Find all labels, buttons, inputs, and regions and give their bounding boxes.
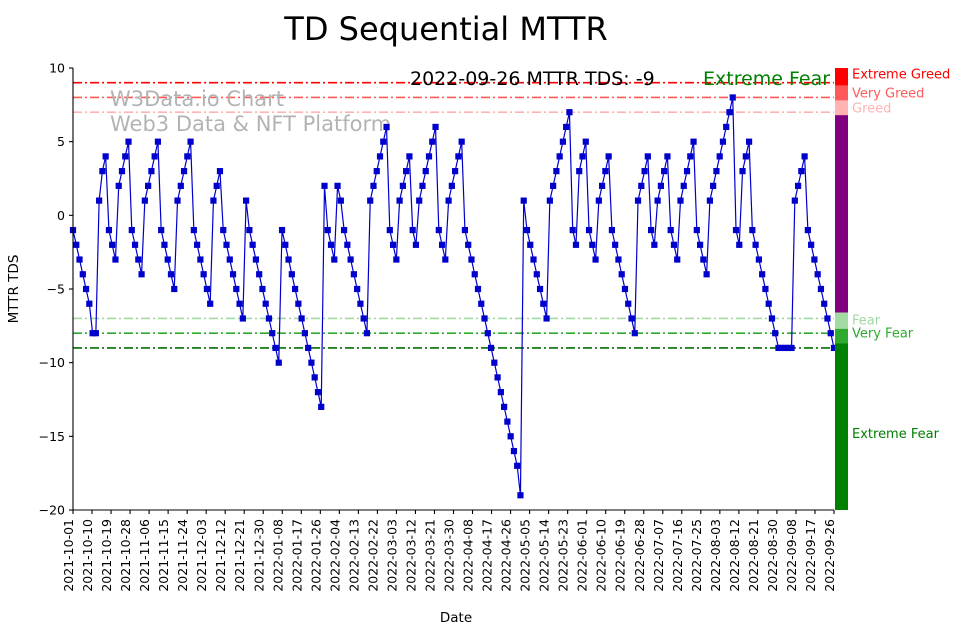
series-marker [635, 198, 641, 204]
series-marker [406, 153, 412, 159]
series-marker [759, 271, 765, 277]
x-tick-label: 2022-02-22 [365, 519, 380, 592]
series-marker [429, 139, 435, 145]
series-marker [478, 301, 484, 307]
series-marker [295, 301, 301, 307]
series-marker [325, 227, 331, 233]
x-axis-label: Date [440, 610, 472, 626]
series-marker [446, 198, 452, 204]
series-marker [96, 198, 102, 204]
series-marker [511, 448, 517, 454]
series-marker [622, 286, 628, 292]
series-marker [749, 227, 755, 233]
colorbar-segment-extreme-fear [835, 344, 848, 510]
series-marker [710, 183, 716, 189]
series-marker [694, 227, 700, 233]
x-tick-label: 2022-01-26 [308, 519, 323, 592]
series-marker [586, 227, 592, 233]
x-tick-label: 2021-12-03 [194, 519, 209, 592]
series-marker [135, 256, 141, 262]
series-marker [717, 153, 723, 159]
series-marker [671, 242, 677, 248]
series-marker [811, 256, 817, 262]
series-marker [808, 242, 814, 248]
series-marker [109, 242, 115, 248]
series-marker [138, 271, 144, 277]
x-tick-label: 2022-02-04 [327, 519, 342, 592]
series-marker [615, 256, 621, 262]
series-marker [374, 168, 380, 174]
series-marker [220, 227, 226, 233]
series-marker [589, 242, 595, 248]
series-marker [106, 227, 112, 233]
series-marker [103, 153, 109, 159]
x-tick-label: 2022-08-12 [727, 519, 742, 592]
series-marker [802, 153, 808, 159]
x-tick-label: 2021-10-10 [80, 519, 95, 592]
series-marker [168, 271, 174, 277]
series-marker [726, 109, 732, 115]
series-marker [566, 109, 572, 115]
series-marker [579, 153, 585, 159]
series-marker [606, 153, 612, 159]
series-marker [410, 227, 416, 233]
annotation-sentiment: Extreme Fear [703, 68, 830, 90]
series-marker [148, 168, 154, 174]
series-marker [86, 301, 92, 307]
series-marker [674, 256, 680, 262]
chart-canvas: TD Sequential MTTR W3Data.io Chart Web3 … [0, 0, 962, 633]
series-marker [282, 242, 288, 248]
series-marker [821, 301, 827, 307]
series-marker [739, 168, 745, 174]
series-marker [223, 242, 229, 248]
series-marker [596, 198, 602, 204]
series-marker [259, 286, 265, 292]
series-marker [269, 330, 275, 336]
sentiment-colorbar [835, 68, 848, 510]
colorbar-segment-very-fear [835, 329, 848, 344]
colorbar-label-very-fear: Very Fear [852, 327, 914, 342]
series-marker [387, 227, 393, 233]
x-tick-label: 2021-11-24 [175, 519, 190, 592]
series-marker [517, 492, 523, 498]
series-marker [465, 242, 471, 248]
colorbar-label-very-greed: Very Greed [852, 87, 924, 102]
series-marker [321, 183, 327, 189]
series-marker [423, 168, 429, 174]
series-marker [828, 330, 834, 336]
x-tick-label: 2022-04-08 [461, 519, 476, 592]
watermark-line-2: Web3 Data & NFT Platform [110, 112, 391, 136]
series-marker [122, 153, 128, 159]
series-marker [184, 153, 190, 159]
series-marker [723, 124, 729, 130]
series-marker [798, 168, 804, 174]
series-marker [210, 198, 216, 204]
series-marker [279, 227, 285, 233]
series-marker [576, 168, 582, 174]
series-marker [452, 168, 458, 174]
series-marker [795, 183, 801, 189]
series-marker [455, 153, 461, 159]
annotation-latest-value: 2022-09-26 MTTR TDS: -9 [410, 68, 655, 90]
series-marker [364, 330, 370, 336]
series-marker [204, 286, 210, 292]
series-marker [792, 198, 798, 204]
series-marker [570, 227, 576, 233]
x-tick-label: 2021-11-06 [137, 519, 152, 592]
series-marker [99, 168, 105, 174]
series-marker [83, 286, 89, 292]
series-marker [753, 242, 759, 248]
series-marker [197, 256, 203, 262]
series-marker [599, 183, 605, 189]
series-marker [80, 271, 86, 277]
series-marker [158, 227, 164, 233]
series-marker [76, 256, 82, 262]
colorbar-segment-greed [835, 100, 848, 115]
series-marker [383, 124, 389, 130]
series-marker [501, 404, 507, 410]
series-marker [700, 256, 706, 262]
series-marker [655, 198, 661, 204]
x-tick-label: 2022-06-10 [594, 519, 609, 592]
series-marker [426, 153, 432, 159]
series-marker [112, 256, 118, 262]
x-tick-label: 2022-08-21 [746, 519, 761, 592]
series-marker [609, 227, 615, 233]
series-marker [256, 271, 262, 277]
series-marker [318, 404, 324, 410]
series-marker [713, 168, 719, 174]
series-marker [289, 271, 295, 277]
x-tick-label: 2022-06-01 [575, 519, 590, 592]
series-marker [527, 242, 533, 248]
series-marker [815, 271, 821, 277]
y-tick-label: −10 [39, 355, 65, 370]
series-marker [416, 198, 422, 204]
series-marker [573, 242, 579, 248]
series-marker [720, 139, 726, 145]
colorbar-segment-very-greed [835, 86, 848, 101]
x-tick-label: 2021-12-30 [251, 519, 266, 592]
series-marker [459, 139, 465, 145]
series-marker [419, 183, 425, 189]
series-marker [756, 256, 762, 262]
series-marker [93, 330, 99, 336]
series-marker [638, 183, 644, 189]
series-marker [743, 153, 749, 159]
series-marker [308, 360, 314, 366]
series-marker [171, 286, 177, 292]
series-marker [413, 242, 419, 248]
watermark-line-1: W3Data.io Chart [110, 87, 284, 111]
series-marker [361, 315, 367, 321]
td-sequential-mttr-figure: TD Sequential MTTR W3Data.io Chart Web3 … [0, 0, 962, 633]
series-marker [805, 227, 811, 233]
series-marker [707, 198, 713, 204]
series-marker [730, 94, 736, 100]
series-marker [377, 153, 383, 159]
series-marker [733, 227, 739, 233]
series-marker [276, 360, 282, 366]
x-tick-label: 2021-12-21 [232, 519, 247, 592]
series-marker [746, 139, 752, 145]
x-tick-label: 2022-05-05 [518, 519, 533, 592]
series-marker [191, 227, 197, 233]
series-marker [687, 153, 693, 159]
series-marker [125, 139, 131, 145]
y-axis-label: MTTR TDS [6, 255, 22, 324]
series-marker [508, 433, 514, 439]
x-tick-label: 2022-03-21 [422, 519, 437, 592]
series-marker [766, 301, 772, 307]
series-marker [449, 183, 455, 189]
colorbar-segment-fear [835, 313, 848, 329]
series-marker [331, 256, 337, 262]
series-marker [762, 286, 768, 292]
series-marker [537, 286, 543, 292]
series-marker [788, 345, 794, 351]
series-marker [491, 360, 497, 366]
x-tick-label: 2021-10-28 [118, 519, 133, 592]
series-marker [145, 183, 151, 189]
x-tick-label: 2022-03-03 [384, 519, 399, 592]
series-marker [488, 345, 494, 351]
series-marker [772, 330, 778, 336]
series-marker [344, 242, 350, 248]
y-tick-label: 5 [57, 134, 65, 149]
series-marker [348, 256, 354, 262]
series-marker [119, 168, 125, 174]
x-tick-label: 2022-01-08 [270, 519, 285, 592]
series-marker [641, 168, 647, 174]
series-marker [472, 271, 478, 277]
x-axis-ticks: 2021-10-012021-10-102021-10-192021-10-28… [61, 510, 837, 592]
series-marker [194, 242, 200, 248]
x-tick-label: 2021-10-19 [99, 519, 114, 592]
series-marker [534, 271, 540, 277]
series-marker [563, 124, 569, 130]
series-marker [403, 168, 409, 174]
series-marker [400, 183, 406, 189]
series-marker [129, 227, 135, 233]
y-tick-label: 0 [57, 208, 65, 223]
series-marker [677, 198, 683, 204]
x-tick-label: 2022-04-26 [499, 519, 514, 592]
series-marker [357, 301, 363, 307]
series-marker [530, 256, 536, 262]
y-tick-label: −15 [39, 429, 65, 444]
series-marker [207, 301, 213, 307]
x-tick-label: 2021-10-01 [61, 519, 76, 592]
y-tick-label: 10 [49, 61, 65, 76]
series-marker [485, 330, 491, 336]
x-tick-label: 2022-09-17 [803, 519, 818, 592]
series-marker [681, 183, 687, 189]
x-tick-label: 2022-08-30 [765, 519, 780, 592]
series-marker [246, 227, 252, 233]
series-marker [612, 242, 618, 248]
series-marker [668, 227, 674, 233]
colorbar-label-extreme-fear: Extreme Fear [852, 427, 940, 442]
x-tick-label: 2022-05-14 [537, 519, 552, 592]
series-marker [540, 301, 546, 307]
series-marker [524, 227, 530, 233]
series-marker [632, 330, 638, 336]
series-marker [560, 139, 566, 145]
x-tick-label: 2022-09-08 [784, 519, 799, 592]
series-marker [181, 168, 187, 174]
series-marker [116, 183, 122, 189]
series-marker [380, 139, 386, 145]
series-marker [648, 227, 654, 233]
series-marker [178, 183, 184, 189]
series-marker [736, 242, 742, 248]
series-marker [142, 198, 148, 204]
series-marker [661, 168, 667, 174]
series-marker [370, 183, 376, 189]
series-marker [152, 153, 158, 159]
x-tick-label: 2021-12-12 [213, 519, 228, 592]
colorbar-label-extreme-greed: Extreme Greed [852, 67, 950, 82]
series-marker [305, 345, 311, 351]
series-marker [214, 183, 220, 189]
series-marker [155, 139, 161, 145]
series-marker [250, 242, 256, 248]
series-marker [553, 168, 559, 174]
series-marker [334, 183, 340, 189]
series-marker [272, 345, 278, 351]
series-marker [658, 183, 664, 189]
series-marker [583, 139, 589, 145]
series-marker [285, 256, 291, 262]
series-marker [475, 286, 481, 292]
series-marker [628, 315, 634, 321]
series-marker [165, 256, 171, 262]
series-marker [824, 315, 830, 321]
series-marker [769, 315, 775, 321]
series-marker [651, 242, 657, 248]
series-marker [266, 315, 272, 321]
series-marker [263, 301, 269, 307]
series-marker [187, 139, 193, 145]
x-tick-label: 2022-05-23 [556, 519, 571, 592]
series-marker [302, 330, 308, 336]
x-tick-label: 2022-03-12 [403, 519, 418, 592]
series-marker [550, 183, 556, 189]
series-marker [230, 271, 236, 277]
series-marker [292, 286, 298, 292]
series-marker [697, 242, 703, 248]
series-marker [557, 153, 563, 159]
series-marker [436, 227, 442, 233]
y-tick-label: −5 [47, 282, 65, 297]
series-marker [504, 419, 510, 425]
series-marker [315, 389, 321, 395]
series-marker [439, 242, 445, 248]
series-marker [174, 198, 180, 204]
series-marker [645, 153, 651, 159]
series-marker [468, 256, 474, 262]
x-tick-label: 2022-03-30 [442, 519, 457, 592]
page-title: TD Sequential MTTR [283, 10, 607, 48]
x-tick-label: 2021-11-15 [156, 519, 171, 592]
series-marker [592, 256, 598, 262]
x-tick-label: 2022-01-17 [289, 519, 304, 592]
series-marker [390, 242, 396, 248]
series-marker [132, 242, 138, 248]
colorbar-segment-neutral [835, 115, 848, 312]
series-marker [201, 271, 207, 277]
series-marker [543, 315, 549, 321]
x-tick-label: 2022-08-03 [708, 519, 723, 592]
series-marker [393, 256, 399, 262]
series-marker [351, 271, 357, 277]
x-tick-label: 2022-07-25 [689, 519, 704, 592]
x-tick-label: 2022-06-19 [613, 519, 628, 592]
series-marker [240, 315, 246, 321]
series-marker [397, 198, 403, 204]
series-marker [625, 301, 631, 307]
y-tick-label: −20 [39, 503, 65, 518]
series-marker [161, 242, 167, 248]
series-marker [236, 301, 242, 307]
series-marker [442, 256, 448, 262]
x-tick-label: 2022-02-13 [346, 519, 361, 592]
series-marker [547, 198, 553, 204]
x-tick-label: 2022-06-28 [632, 519, 647, 592]
x-tick-label: 2022-07-07 [651, 519, 666, 592]
x-tick-label: 2022-07-16 [670, 519, 685, 592]
series-marker [227, 256, 233, 262]
series-marker [367, 198, 373, 204]
series-marker [233, 286, 239, 292]
series-marker [354, 286, 360, 292]
series-marker [312, 374, 318, 380]
series-marker [494, 374, 500, 380]
series-marker [341, 227, 347, 233]
series-marker [73, 242, 79, 248]
x-tick-label: 2022-04-17 [480, 519, 495, 592]
series-marker [521, 198, 527, 204]
series-marker [253, 256, 259, 262]
series-marker [684, 168, 690, 174]
series-marker [217, 168, 223, 174]
series-marker [432, 124, 438, 130]
series-marker [243, 198, 249, 204]
series-marker [704, 271, 710, 277]
series-marker [664, 153, 670, 159]
series-marker [338, 198, 344, 204]
colorbar-label-greed: Greed [852, 101, 891, 116]
series-marker [818, 286, 824, 292]
series-marker [462, 227, 468, 233]
colorbar-segment-extreme-greed [835, 68, 848, 86]
x-tick-label: 2022-09-26 [822, 519, 837, 592]
series-marker [602, 168, 608, 174]
series-marker [328, 242, 334, 248]
series-marker [619, 271, 625, 277]
series-marker [299, 315, 305, 321]
series-marker [481, 315, 487, 321]
series-marker [498, 389, 504, 395]
series-marker [514, 463, 520, 469]
series-marker [690, 139, 696, 145]
